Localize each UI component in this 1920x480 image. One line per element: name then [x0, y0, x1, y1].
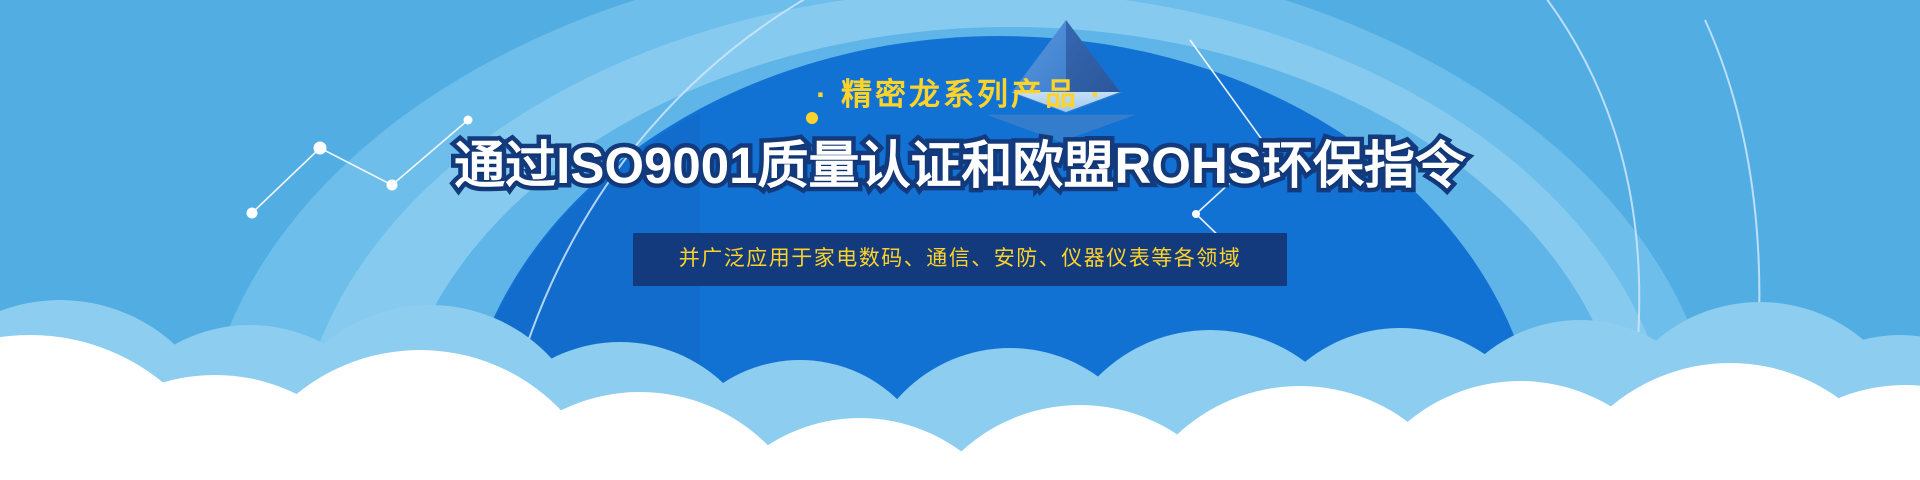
promo-banner: · 精密龙系列产品 · 通过ISO9001质量认证和欧盟ROHS环保指令 并广泛…: [0, 0, 1920, 480]
banner-eyebrow: · 精密龙系列产品 ·: [816, 76, 1104, 113]
banner-subtitle-bar: 并广泛应用于家电数码、通信、安防、仪器仪表等各领域: [633, 233, 1288, 286]
banner-headline: 通过ISO9001质量认证和欧盟ROHS环保指令: [454, 135, 1466, 197]
banner-subtitle: 并广泛应用于家电数码、通信、安防、仪器仪表等各领域: [679, 246, 1242, 271]
banner-headline-wrap: 通过ISO9001质量认证和欧盟ROHS环保指令: [454, 135, 1466, 197]
yellow-accent-dot: [806, 112, 818, 124]
